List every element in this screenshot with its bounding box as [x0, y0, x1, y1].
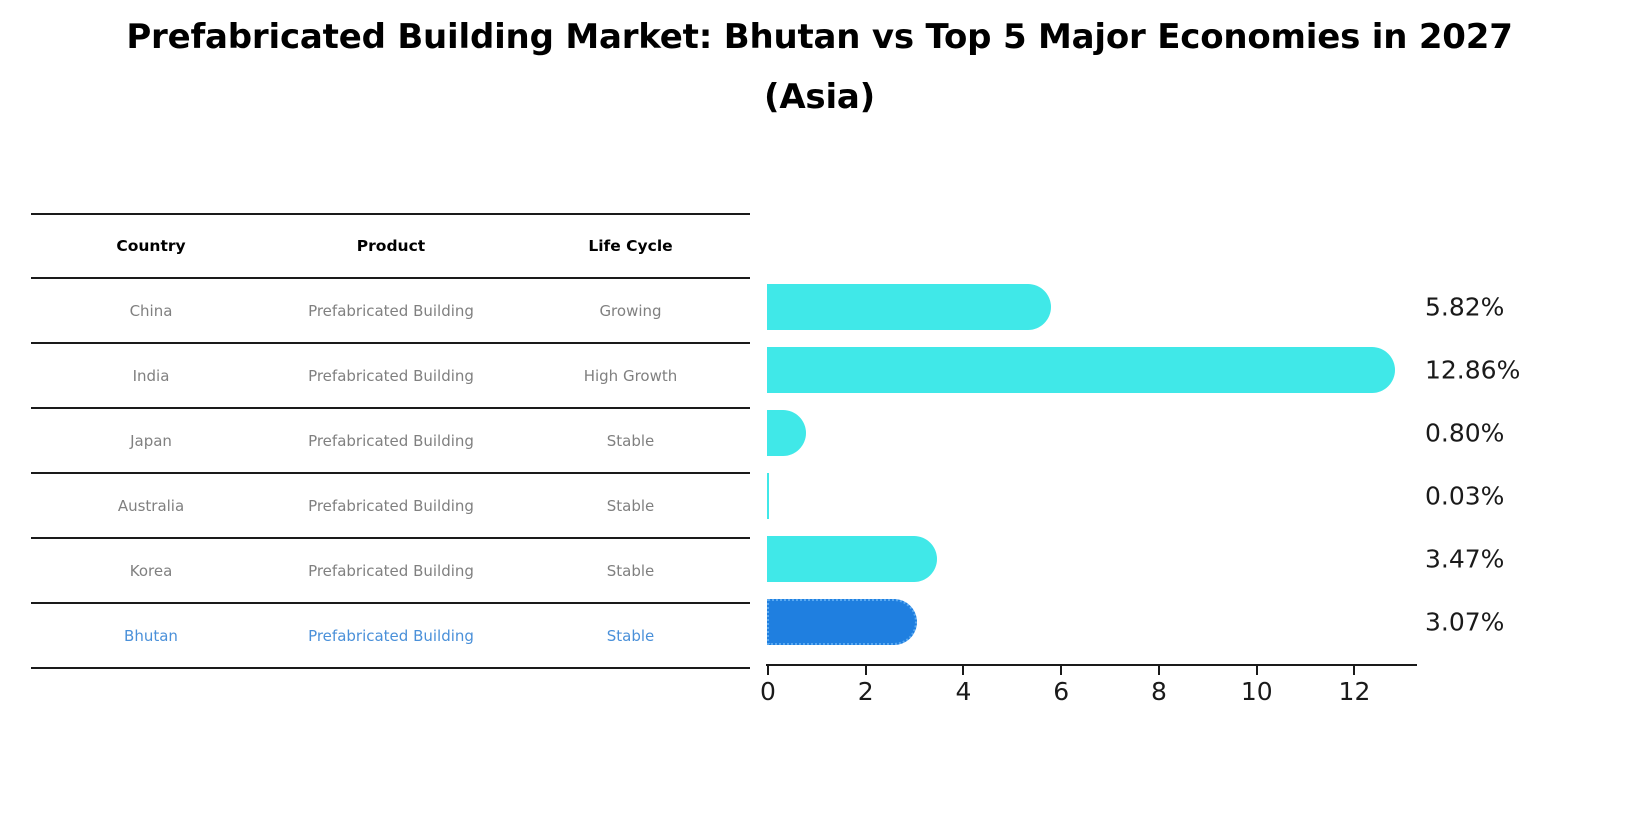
bar-value-label: 3.47% [1425, 544, 1504, 573]
x-axis-tick [1158, 666, 1160, 675]
title-line-2: (Asia) [0, 68, 1639, 128]
bar-chart-area: 5.82%12.86%0.80%0.03%3.47%3.07% [767, 275, 1417, 664]
cell-product: Prefabricated Building [271, 343, 511, 408]
bar-row: 12.86% [767, 338, 1417, 401]
cell-product: Prefabricated Building [271, 538, 511, 603]
table-row[interactable]: AustraliaPrefabricated BuildingStable [31, 473, 750, 538]
cell-product: Prefabricated Building [271, 603, 511, 668]
title-line-1: Prefabricated Building Market: Bhutan vs… [0, 8, 1639, 68]
bar-japan[interactable] [767, 410, 806, 456]
x-axis-tick [962, 666, 964, 675]
cell-life-cycle: Stable [511, 538, 750, 603]
cell-country: Bhutan [31, 603, 271, 668]
country-table-panel: Country Product Life Cycle ChinaPrefabri… [31, 213, 750, 669]
x-axis: 024681012 [767, 664, 1417, 724]
column-header-product: Product [271, 214, 511, 278]
x-axis-tick [1256, 666, 1258, 675]
x-axis-line [766, 664, 1417, 666]
x-axis-tick [1060, 666, 1062, 675]
cell-product: Prefabricated Building [271, 278, 511, 343]
x-axis-tick [865, 666, 867, 675]
table-row[interactable]: KoreaPrefabricated BuildingStable [31, 538, 750, 603]
x-axis-tick-label: 4 [956, 677, 972, 706]
bar-row: 3.07% [767, 590, 1417, 653]
bar-track [767, 599, 1417, 645]
x-axis-tick-label: 2 [858, 677, 874, 706]
bar-india[interactable] [767, 347, 1395, 393]
x-axis-tick-label: 8 [1151, 677, 1167, 706]
cell-life-cycle: High Growth [511, 343, 750, 408]
x-axis-tick [1353, 666, 1355, 675]
table-header: Country Product Life Cycle [31, 214, 750, 278]
cell-country: Korea [31, 538, 271, 603]
x-axis-tick-label: 0 [760, 677, 776, 706]
cell-country: China [31, 278, 271, 343]
bar-track [767, 473, 1417, 519]
page-title: Prefabricated Building Market: Bhutan vs… [0, 8, 1639, 127]
table-row[interactable]: JapanPrefabricated BuildingStable [31, 408, 750, 473]
bar-value-label: 5.82% [1425, 292, 1504, 321]
column-header-life-cycle: Life Cycle [511, 214, 750, 278]
x-axis-tick [767, 666, 769, 675]
bar-row: 5.82% [767, 275, 1417, 338]
cell-country: India [31, 343, 271, 408]
cell-country: Australia [31, 473, 271, 538]
cell-product: Prefabricated Building [271, 408, 511, 473]
bar-value-label: 3.07% [1425, 607, 1504, 636]
bar-china[interactable] [767, 284, 1051, 330]
bar-value-label: 0.80% [1425, 418, 1504, 447]
cell-life-cycle: Stable [511, 408, 750, 473]
table-body: ChinaPrefabricated BuildingGrowingIndiaP… [31, 278, 750, 668]
cell-product: Prefabricated Building [271, 473, 511, 538]
bar-track [767, 284, 1417, 330]
table-row[interactable]: ChinaPrefabricated BuildingGrowing [31, 278, 750, 343]
x-axis-tick-label: 6 [1053, 677, 1069, 706]
bar-track [767, 536, 1417, 582]
bar-australia[interactable] [767, 473, 769, 519]
table-row[interactable]: IndiaPrefabricated BuildingHigh Growth [31, 343, 750, 408]
cell-country: Japan [31, 408, 271, 473]
cell-life-cycle: Stable [511, 603, 750, 668]
x-axis-tick-label: 12 [1339, 677, 1371, 706]
column-header-country: Country [31, 214, 271, 278]
bar-track [767, 347, 1417, 393]
bar-row: 0.80% [767, 401, 1417, 464]
bar-track [767, 410, 1417, 456]
bar-bhutan[interactable] [767, 599, 917, 645]
bar-row: 0.03% [767, 464, 1417, 527]
cell-life-cycle: Stable [511, 473, 750, 538]
table-header-row: Country Product Life Cycle [31, 214, 750, 278]
country-table: Country Product Life Cycle ChinaPrefabri… [31, 213, 750, 669]
x-axis-tick-label: 10 [1241, 677, 1273, 706]
cell-life-cycle: Growing [511, 278, 750, 343]
bar-row: 3.47% [767, 527, 1417, 590]
table-row[interactable]: BhutanPrefabricated BuildingStable [31, 603, 750, 668]
bar-value-label: 12.86% [1425, 355, 1520, 384]
bar-value-label: 0.03% [1425, 481, 1504, 510]
bar-korea[interactable] [767, 536, 937, 582]
